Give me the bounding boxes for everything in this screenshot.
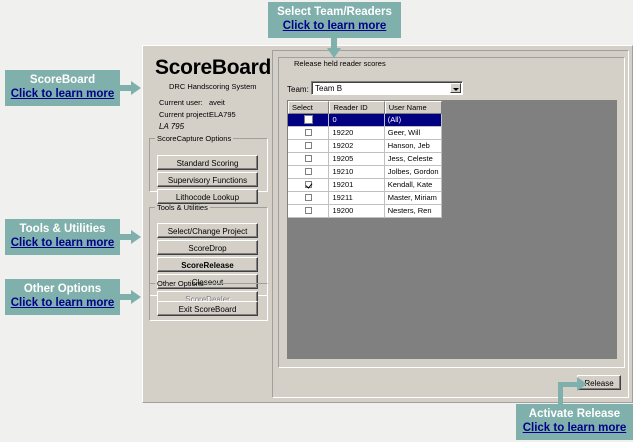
readers-grid-body: 0(All)19220Geer, Will19202Hanson, Jeb192… <box>288 114 442 218</box>
readers-grid[interactable]: Select Reader ID User Name 0(All)19220Ge… <box>287 100 617 359</box>
callout-scoreboard[interactable]: ScoreBoard Click to learn more <box>5 70 120 106</box>
row-select-cell[interactable] <box>288 166 329 179</box>
user-name-cell: Nesters, Ren <box>385 205 442 218</box>
lithocode-lookup-button[interactable]: Lithocode Lookup <box>157 189 258 204</box>
release-held-scores-legend: Release held reader scores <box>291 59 389 68</box>
user-name-cell: Master, Miriam <box>385 192 442 205</box>
callout-scoreboard-link[interactable]: Click to learn more <box>5 87 120 101</box>
exit-scoreboard-button[interactable]: Exit ScoreBoard <box>157 301 258 316</box>
checkbox-icon[interactable] <box>305 181 312 188</box>
user-name-cell: Jess, Celeste <box>385 153 442 166</box>
release-held-scores-group: Release held reader scores Team: Team B … <box>278 57 625 368</box>
callout-scoreboard-arrow-head <box>131 81 141 95</box>
reader-id-cell: 19205 <box>329 153 384 166</box>
app-subtitle: DRC Handscoring System <box>169 82 257 91</box>
table-row[interactable]: 0(All) <box>288 114 442 127</box>
reader-id-cell: 19202 <box>329 140 384 153</box>
reader-id-cell: 19201 <box>329 179 384 192</box>
project-italic-value: LA 795 <box>159 122 184 131</box>
callout-select-team-readers[interactable]: Select Team/Readers Click to learn more <box>268 2 401 38</box>
readers-grid-inner: Select Reader ID User Name 0(All)19220Ge… <box>288 101 442 218</box>
callout-select-team-readers-title: Select Team/Readers <box>268 5 401 19</box>
scoredrop-button[interactable]: ScoreDrop <box>157 240 258 255</box>
row-select-cell[interactable] <box>288 179 329 192</box>
callout-activate-release-title: Activate Release <box>516 407 633 421</box>
tools-utilities-legend: Tools & Utilities <box>155 203 210 212</box>
row-select-cell[interactable] <box>288 192 329 205</box>
select-change-project-button[interactable]: Select/Change Project <box>157 223 258 238</box>
scoreboard-window: ScoreBoard DRC Handscoring System Curren… <box>142 45 633 403</box>
team-dropdown-value: Team B <box>315 84 342 93</box>
readers-grid-header: Select Reader ID User Name <box>288 101 442 114</box>
callout-other-arrow-head <box>131 290 141 304</box>
release-panel: Release held reader scores Team: Team B … <box>272 50 629 398</box>
table-row[interactable]: 19210Jolbes, Gordon <box>288 166 442 179</box>
row-select-cell[interactable] <box>288 153 329 166</box>
screenshot-root: ScoreBoard DRC Handscoring System Curren… <box>0 0 633 442</box>
other-options-legend: Other Options <box>155 279 206 288</box>
table-row[interactable]: 19211Master, Miriam <box>288 192 442 205</box>
callout-other-options-title: Other Options <box>5 282 120 296</box>
scorecapture-options-legend: ScoreCapture Options <box>155 134 233 143</box>
row-select-cell[interactable] <box>288 140 329 153</box>
checkbox-icon[interactable] <box>305 207 312 214</box>
current-user-value: aveit <box>209 98 225 107</box>
callout-activate-release-link[interactable]: Click to learn more <box>516 421 633 435</box>
other-options-group: Other Options Exit ScoreBoard <box>149 279 268 321</box>
table-row[interactable]: 19200Nesters, Ren <box>288 205 442 218</box>
user-name-cell: Hanson, Jeb <box>385 140 442 153</box>
table-row[interactable]: 19205Jess, Celeste <box>288 153 442 166</box>
column-header-select[interactable]: Select <box>288 101 329 114</box>
checkbox-icon[interactable] <box>305 155 312 162</box>
team-label: Team: <box>287 85 309 94</box>
reader-id-cell: 19210 <box>329 166 384 179</box>
table-row[interactable]: 19202Hanson, Jeb <box>288 140 442 153</box>
callout-select-team-readers-link[interactable]: Click to learn more <box>268 19 401 33</box>
row-select-cell[interactable] <box>288 114 329 127</box>
user-name-cell: Kendall, Kate <box>385 179 442 192</box>
callout-tools-utilities[interactable]: Tools & Utilities Click to learn more <box>5 219 120 255</box>
user-name-cell: Geer, Will <box>385 127 442 140</box>
user-name-cell: Jolbes, Gordon <box>385 166 442 179</box>
reader-id-cell: 0 <box>329 114 384 127</box>
supervisory-functions-button[interactable]: Supervisory Functions <box>157 172 258 187</box>
callout-activate-release[interactable]: Activate Release Click to learn more <box>516 404 633 440</box>
callout-tools-arrow-head <box>131 230 141 244</box>
column-header-user-name[interactable]: User Name <box>385 101 442 114</box>
current-user-label: Current user: <box>159 98 203 107</box>
table-row[interactable]: 19220Geer, Will <box>288 127 442 140</box>
reader-id-cell: 19200 <box>329 205 384 218</box>
current-project-label: Current project: <box>159 110 211 119</box>
callout-tools-utilities-title: Tools & Utilities <box>5 222 120 236</box>
checkbox-icon[interactable] <box>304 115 313 124</box>
callout-other-options[interactable]: Other Options Click to learn more <box>5 279 120 315</box>
callout-other-options-link[interactable]: Click to learn more <box>5 296 120 310</box>
row-select-cell[interactable] <box>288 127 329 140</box>
team-dropdown[interactable]: Team B <box>311 81 463 95</box>
standard-scoring-button[interactable]: Standard Scoring <box>157 155 258 170</box>
callout-team-arrow-head <box>327 48 341 58</box>
column-header-reader-id[interactable]: Reader ID <box>329 101 384 114</box>
callout-scoreboard-title: ScoreBoard <box>5 73 120 87</box>
scorerelease-button[interactable]: ScoreRelease <box>157 257 258 272</box>
reader-id-cell: 19211 <box>329 192 384 205</box>
callout-activate-arrow-head <box>577 377 587 391</box>
reader-id-cell: 19220 <box>329 127 384 140</box>
current-project-value: ELA795 <box>209 110 236 119</box>
scorecapture-options-group: ScoreCapture Options Standard Scoring Su… <box>149 134 268 192</box>
app-title: ScoreBoard <box>155 56 271 80</box>
table-row[interactable]: 19201Kendall, Kate <box>288 179 442 192</box>
row-select-cell[interactable] <box>288 205 329 218</box>
checkbox-icon[interactable] <box>305 194 312 201</box>
left-column: ScoreBoard DRC Handscoring System Curren… <box>147 50 268 398</box>
callout-tools-utilities-link[interactable]: Click to learn more <box>5 236 120 250</box>
checkbox-icon[interactable] <box>305 129 312 136</box>
chevron-down-icon[interactable] <box>450 83 461 93</box>
checkbox-icon[interactable] <box>305 142 312 149</box>
user-name-cell: (All) <box>385 114 442 127</box>
checkbox-icon[interactable] <box>305 168 312 175</box>
